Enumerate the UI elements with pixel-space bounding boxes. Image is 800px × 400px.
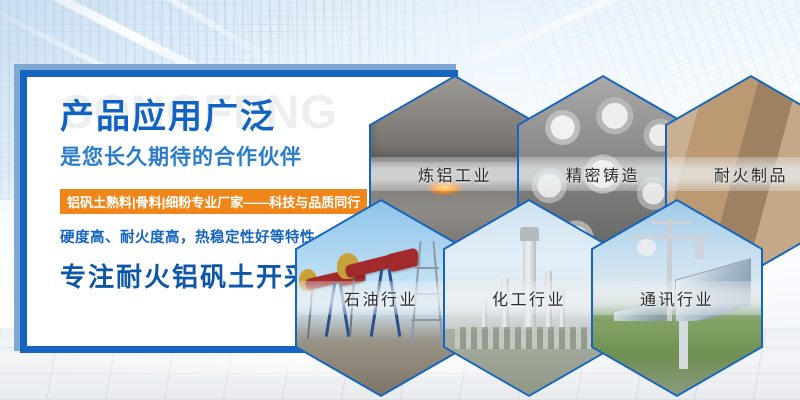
hexagon-label-telecom: 通讯行业 bbox=[593, 281, 761, 315]
banner-stage: SONGFENG 产品应用广泛 是您长久期待的合作伙伴 铝矾土熟料|骨料|细粉专… bbox=[0, 0, 800, 400]
hexagon-label-smelting: 炼铝工业 bbox=[371, 157, 539, 191]
cross-arm-icon bbox=[651, 221, 691, 224]
sensor-box-icon bbox=[695, 239, 704, 259]
headline-text: 产品应用广泛 bbox=[60, 100, 276, 134]
subheadline-text: 是您长久期待的合作伙伴 bbox=[60, 147, 302, 168]
feature-text: 硬度高、耐火度高，热稳定性好等特性 bbox=[60, 231, 315, 246]
hexagon-label-chemical: 化工行业 bbox=[445, 281, 613, 315]
plant-buildings bbox=[455, 327, 605, 349]
hexagon-label-casting: 精密铸造 bbox=[519, 157, 687, 191]
camera-dome-icon bbox=[637, 239, 656, 256]
equipment-cabinet-icon bbox=[679, 321, 688, 369]
column-cap-icon bbox=[520, 227, 539, 241]
orange-tagline-bar: 铝矾土熟料|骨料|细粉专业厂家——科技与品质同行 bbox=[60, 189, 367, 214]
hexagon-label-refractory: 耐火制品 bbox=[667, 157, 800, 191]
hexagon-label-petroleum: 石油行业 bbox=[297, 281, 465, 315]
